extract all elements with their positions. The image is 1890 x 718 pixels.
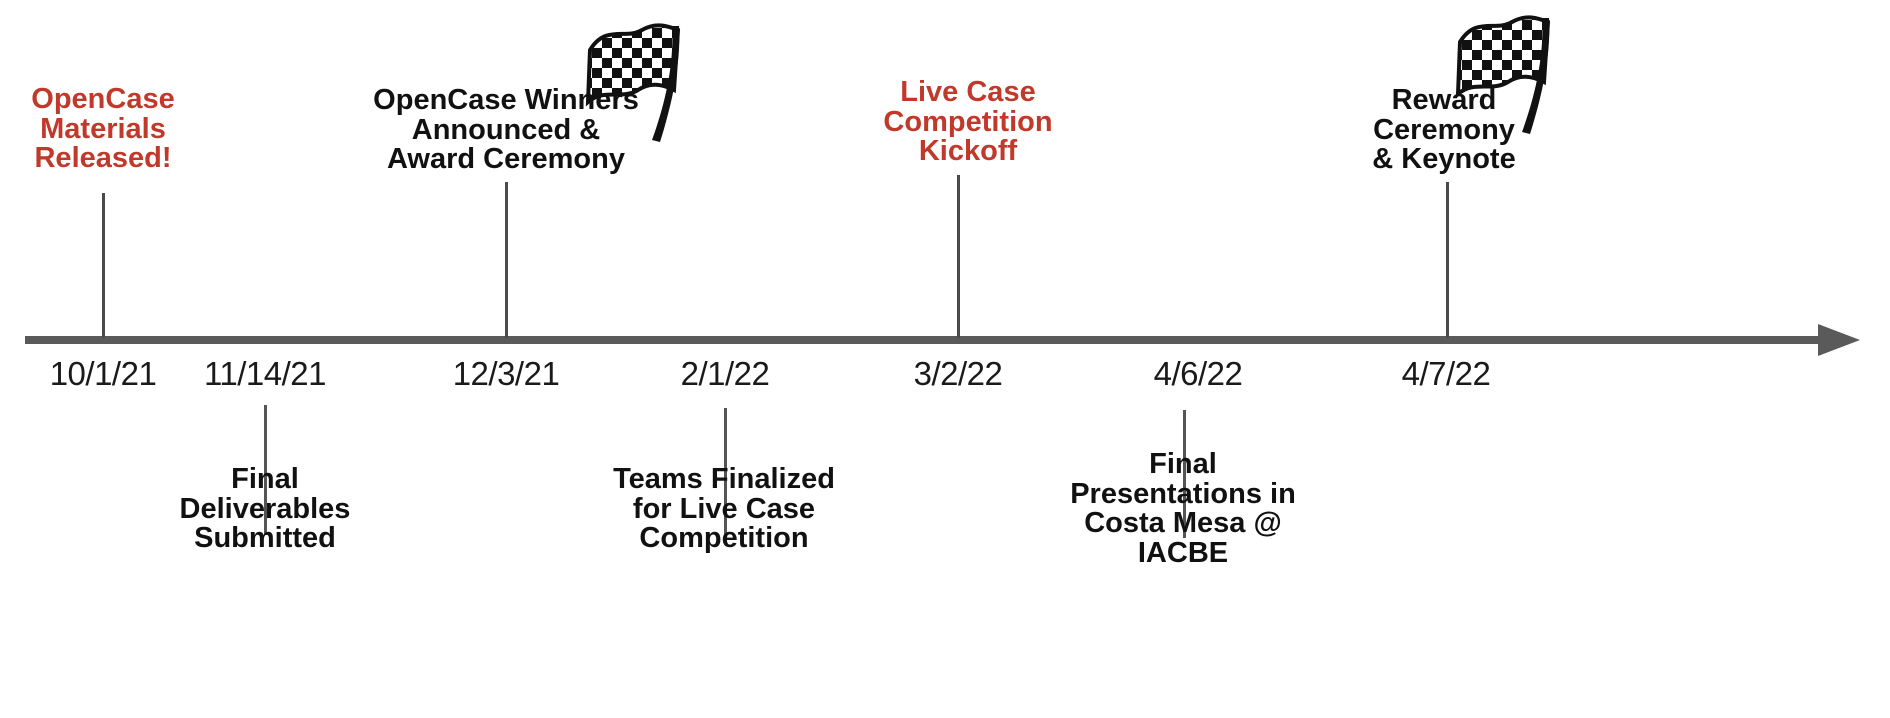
tick-10-1-21 <box>102 193 105 338</box>
event-label-final-presentations-costa-mesa-iacbe: Final Presentations in Costa Mesa @ IACB… <box>1070 450 1296 568</box>
date-label-12-3-21: 12/3/21 <box>453 355 560 393</box>
event-line: Deliverables <box>180 495 351 525</box>
event-line: Competition <box>883 108 1052 138</box>
event-line: Teams Finalized <box>613 465 835 495</box>
timeline-diagram: OpenCase Materials Released! OpenCase Wi… <box>0 0 1890 718</box>
tick-3-2-22 <box>957 175 960 338</box>
date-label-10-1-21: 10/1/21 <box>50 355 157 393</box>
event-label-teams-finalized-for-live-case-competition: Teams Finalized for Live Case Competitio… <box>613 465 835 554</box>
date-label-4-7-22: 4/7/22 <box>1402 355 1491 393</box>
event-label-final-deliverables-submitted: Final Deliverables Submitted <box>180 465 351 554</box>
event-line: Award Ceremony <box>373 145 639 175</box>
event-line: OpenCase <box>31 85 174 115</box>
event-line: Materials <box>31 115 174 145</box>
tick-12-3-21 <box>505 182 508 338</box>
date-label-3-2-22: 3/2/22 <box>914 355 1003 393</box>
event-line: & Keynote <box>1372 145 1515 175</box>
event-line: Kickoff <box>883 137 1052 167</box>
event-line: for Live Case <box>613 495 835 525</box>
tick-4-7-22 <box>1446 182 1449 338</box>
event-line: Live Case <box>883 78 1052 108</box>
event-line: Released! <box>31 144 174 174</box>
date-label-11-14-21: 11/14/21 <box>204 355 326 393</box>
date-label-4-6-22: 4/6/22 <box>1154 355 1243 393</box>
event-label-reward-ceremony-keynote: Reward Ceremony & Keynote <box>1372 86 1515 175</box>
timeline-axis-line <box>25 336 1825 344</box>
event-line: Final <box>1070 450 1296 480</box>
event-line: Announced & <box>373 116 639 146</box>
event-line: Costa Mesa @ <box>1070 509 1296 539</box>
event-line: Competition <box>613 524 835 554</box>
event-line: IACBE <box>1070 539 1296 569</box>
event-label-live-case-competition-kickoff: Live Case Competition Kickoff <box>883 78 1052 167</box>
event-line: Reward <box>1372 86 1515 116</box>
event-label-opencase-winners-announced-award-ceremony: OpenCase Winners Announced & Award Cerem… <box>373 86 639 175</box>
event-line: Final <box>180 465 351 495</box>
event-line: Presentations in <box>1070 480 1296 510</box>
date-label-2-1-22: 2/1/22 <box>681 355 770 393</box>
timeline-axis-arrowhead <box>1818 324 1860 356</box>
event-line: OpenCase Winners <box>373 86 639 116</box>
event-line: Submitted <box>180 524 351 554</box>
event-line: Ceremony <box>1372 116 1515 146</box>
event-label-opencase-materials-released: OpenCase Materials Released! <box>31 85 174 174</box>
